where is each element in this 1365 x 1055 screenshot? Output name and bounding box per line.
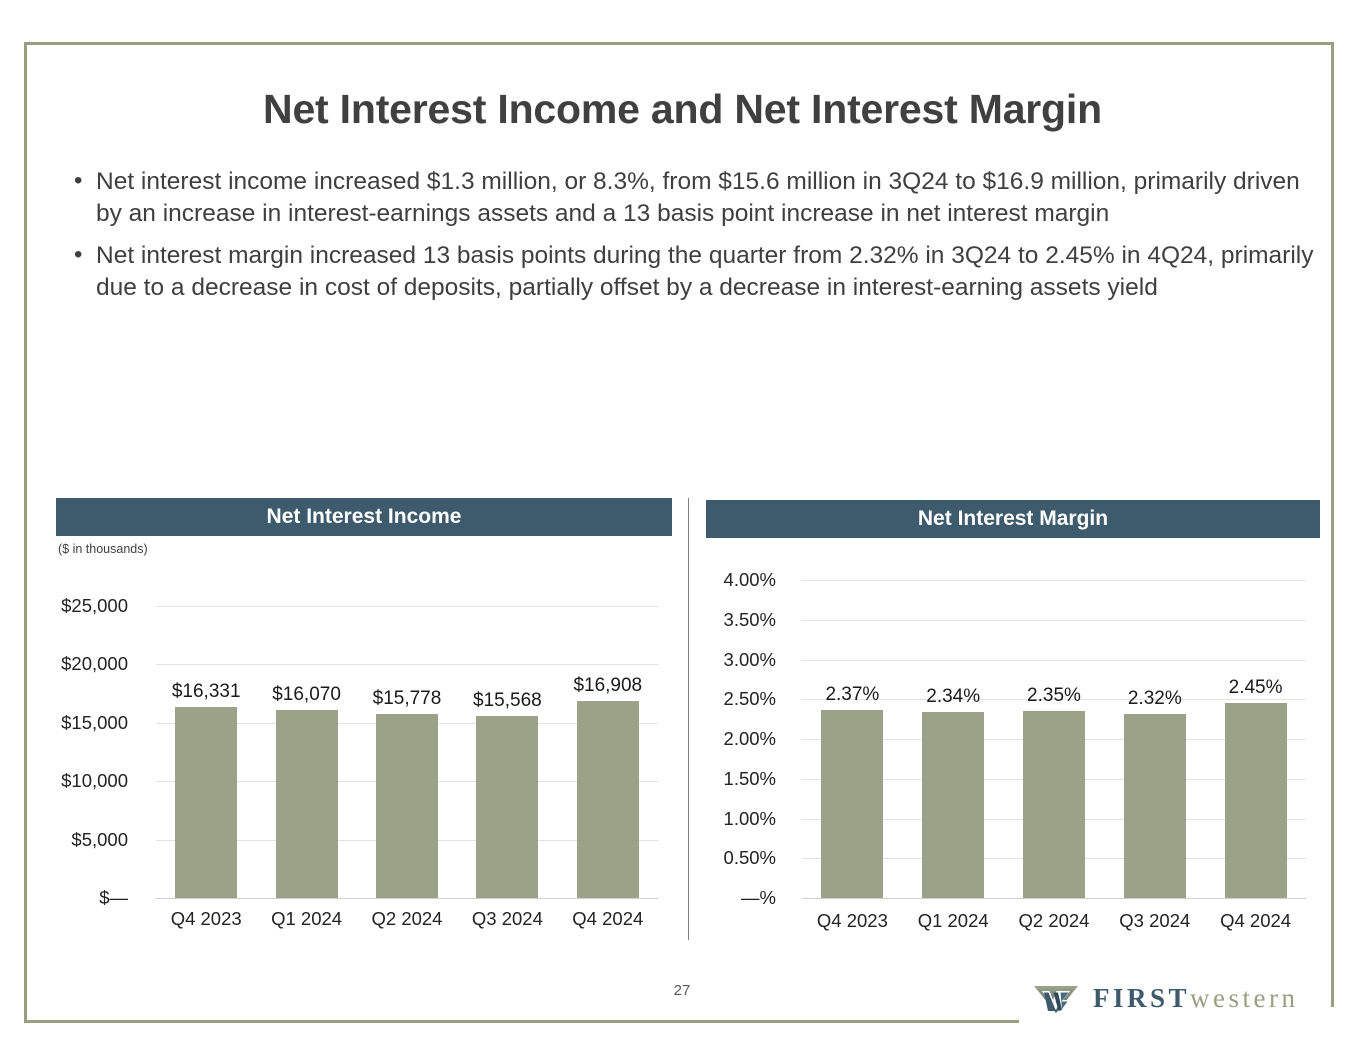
chart-bar[interactable] [1124, 714, 1186, 898]
chart-bar[interactable] [276, 710, 338, 898]
bullet-dot-icon: • [74, 165, 82, 197]
chart-y-axis-tick: $— [56, 887, 128, 909]
logo-first-text: FIRST [1093, 983, 1190, 1013]
slide-canvas: Net Interest Income and Net Interest Mar… [0, 0, 1365, 1055]
chart-data-label: 2.45% [1205, 677, 1306, 699]
chart-data-label: $15,778 [357, 688, 457, 710]
page-title: Net Interest Income and Net Interest Mar… [60, 86, 1305, 133]
chart-y-axis-tick: 4.00% [706, 569, 776, 591]
chart-bar[interactable] [577, 701, 639, 898]
chart-x-axis-tick: Q3 2024 [1104, 910, 1205, 932]
logo-wordmark: FIRSTwestern [1093, 983, 1299, 1014]
frame-border-bottom [24, 1020, 1019, 1023]
chart-gridline [156, 664, 658, 665]
bullet-list: • Net interest income increased $1.3 mil… [66, 166, 1316, 314]
chart-gridline [156, 606, 658, 607]
bullet-text: Net interest margin increased 13 basis p… [96, 242, 1313, 301]
page-number: 27 [652, 982, 712, 999]
chart-y-axis-tick: $10,000 [56, 770, 128, 792]
chart-x-axis-tick: Q4 2023 [802, 910, 903, 932]
chart-y-axis-tick: 3.50% [706, 609, 776, 631]
list-item: • Net interest income increased $1.3 mil… [66, 166, 1316, 230]
chart-x-axis-tick: Q4 2024 [558, 908, 658, 930]
chart-bar[interactable] [922, 712, 984, 898]
chart-data-label: 2.37% [802, 684, 903, 706]
frame-border-top [24, 42, 1334, 45]
chart-data-label: $16,908 [558, 675, 658, 697]
chart-data-label: $16,331 [156, 681, 256, 703]
chart-plot-area-income: $25,000$20,000$15,000$10,000$5,000$—$16,… [56, 596, 672, 938]
chart-divider [688, 498, 689, 940]
frame-border-right [1331, 42, 1334, 1007]
chart-units-label: ($ in thousands) [58, 542, 148, 556]
chart-plot-area-margin: 4.00%3.50%3.00%2.50%2.00%1.50%1.00%0.50%… [706, 568, 1320, 940]
chart-x-axis-tick: Q4 2023 [156, 908, 256, 930]
chart-x-axis-tick: Q4 2024 [1205, 910, 1306, 932]
chart-bar[interactable] [476, 716, 538, 898]
chart-bar[interactable] [1225, 703, 1287, 898]
chart-x-axis-tick: Q3 2024 [457, 908, 557, 930]
chart-y-axis-tick: $25,000 [56, 595, 128, 617]
chart-bar[interactable] [821, 710, 883, 898]
chart-x-axis-tick: Q2 2024 [1004, 910, 1105, 932]
chart-y-axis-tick: 2.00% [706, 728, 776, 750]
list-item: • Net interest margin increased 13 basis… [66, 240, 1316, 304]
chart-gridline [802, 620, 1306, 621]
chart-y-axis-tick: —% [706, 887, 776, 909]
chart-bar[interactable] [175, 707, 237, 898]
brand-logo: FIRSTwestern [1033, 983, 1299, 1014]
chart-gridline [802, 580, 1306, 581]
chart-y-axis-tick: 2.50% [706, 688, 776, 710]
chart-data-label: 2.34% [903, 686, 1004, 708]
chart-data-label: $16,070 [256, 684, 356, 706]
chart-y-axis-tick: $20,000 [56, 653, 128, 675]
chart-y-axis-tick: 0.50% [706, 847, 776, 869]
chart-bar[interactable] [1023, 711, 1085, 898]
chart-data-label: 2.32% [1104, 688, 1205, 710]
chart-title-net-interest-income: Net Interest Income [56, 498, 672, 536]
chart-data-label: $15,568 [457, 690, 557, 712]
logo-western-text: western [1190, 983, 1298, 1013]
chart-y-axis-tick: 3.00% [706, 649, 776, 671]
chart-y-axis-tick: 1.00% [706, 808, 776, 830]
w-triangle-icon [1033, 984, 1079, 1014]
bullet-text: Net interest income increased $1.3 milli… [96, 168, 1300, 227]
chart-bar[interactable] [376, 714, 438, 898]
frame-border-left [24, 42, 27, 1023]
chart-y-axis-tick: $15,000 [56, 712, 128, 734]
bullet-dot-icon: • [74, 239, 82, 271]
chart-axis-line [802, 898, 1306, 899]
chart-y-axis-tick: 1.50% [706, 768, 776, 790]
chart-y-axis-tick: $5,000 [56, 829, 128, 851]
chart-data-label: 2.35% [1004, 685, 1105, 707]
chart-gridline [802, 660, 1306, 661]
chart-net-interest-income: Net Interest Income ($ in thousands) $25… [56, 498, 672, 938]
chart-net-interest-margin: Net Interest Margin 4.00%3.50%3.00%2.50%… [706, 500, 1320, 940]
chart-title-net-interest-margin: Net Interest Margin [706, 500, 1320, 538]
chart-x-axis-tick: Q1 2024 [256, 908, 356, 930]
chart-axis-line [156, 898, 658, 899]
chart-x-axis-tick: Q1 2024 [903, 910, 1004, 932]
chart-x-axis-tick: Q2 2024 [357, 908, 457, 930]
